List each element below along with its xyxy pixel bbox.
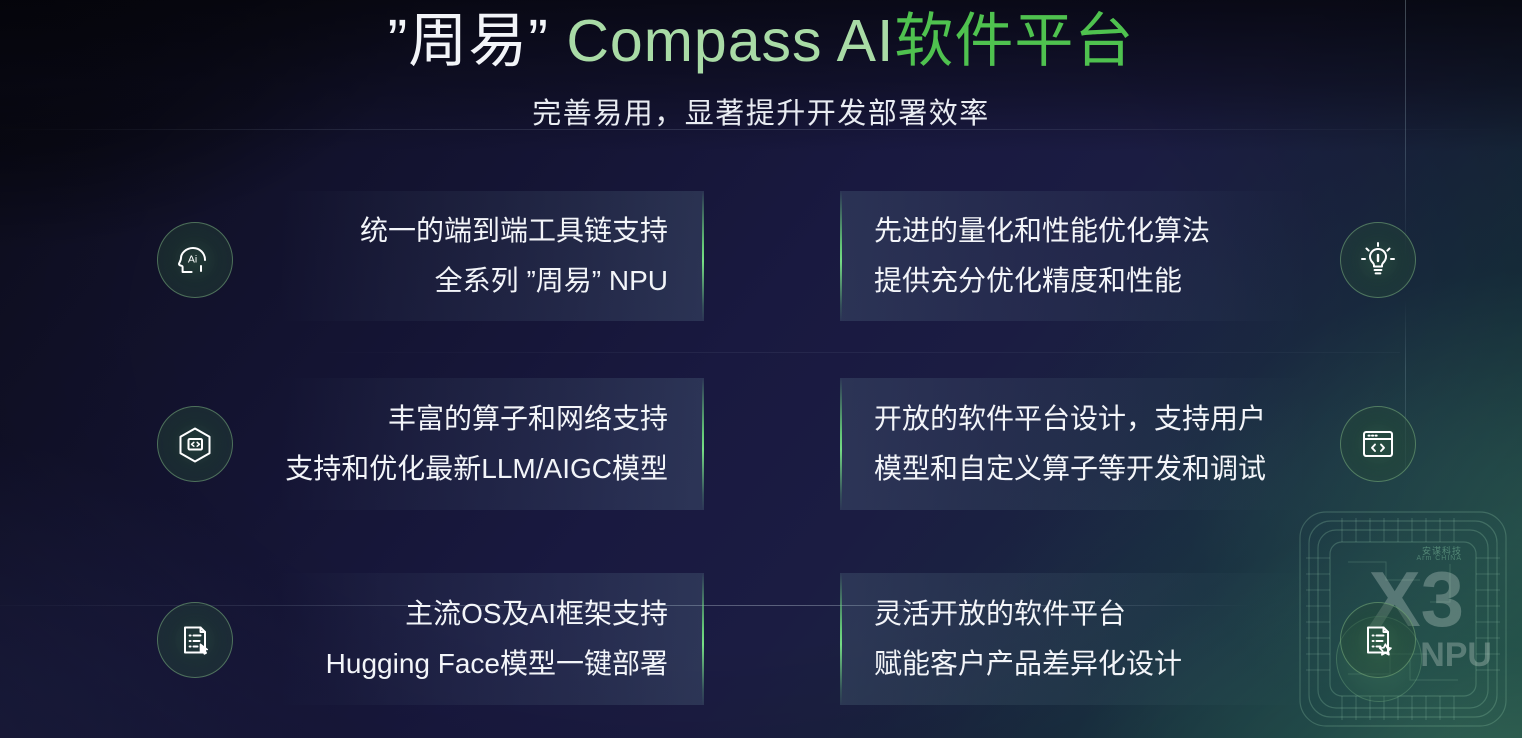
slide-stage: 安谋科技 Arm CHINA X3 NPU ”周易” Compass AI软件平… (0, 0, 1522, 738)
document-cursor-icon (157, 602, 233, 678)
ai-head-icon: Ai (157, 222, 233, 298)
feature-line: 赋能客户产品差异化设计 (874, 650, 1182, 678)
feature-card-rich-operators[interactable]: 丰富的算子和网络支持 支持和优化最新LLM/AIGC模型 (278, 378, 704, 510)
feature-card-advanced-quantization[interactable]: 先进的量化和性能优化算法 提供充分优化精度和性能 (840, 191, 1308, 321)
feature-line: 提供充分优化精度和性能 (874, 267, 1182, 295)
svg-text:Ai: Ai (188, 254, 197, 266)
title-en: Compass AI (566, 8, 894, 74)
feature-card-flexible-platform[interactable]: 灵活开放的软件平台 赋能客户产品差异化设计 (840, 573, 1308, 705)
title-cn-second: 软件平台 (894, 8, 1134, 74)
feature-line: 灵活开放的软件平台 (874, 600, 1126, 628)
header: ”周易” Compass AI软件平台 完善易用，显著提升开发部署效率 (0, 0, 1522, 132)
document-star-icon (1340, 602, 1416, 678)
feature-line: 开放的软件平台设计，支持用户 (874, 405, 1266, 433)
feature-card-os-framework-support[interactable]: 主流OS及AI框架支持 Hugging Face模型一键部署 (278, 573, 704, 705)
feature-line: 丰富的算子和网络支持 (388, 405, 668, 433)
feature-line: 支持和优化最新LLM/AIGC模型 (285, 455, 668, 483)
code-window-icon (1340, 406, 1416, 482)
feature-line: 全系列 ”周易” NPU (435, 267, 668, 295)
page-subtitle: 完善易用，显著提升开发部署效率 (0, 90, 1522, 132)
feature-line: 模型和自定义算子等开发和调试 (874, 455, 1266, 483)
page-title: ”周易” Compass AI软件平台 (0, 0, 1522, 74)
hexagon-code-icon (157, 406, 233, 482)
title-cn-first: 周易 (408, 8, 528, 74)
feature-line: 统一的端到端工具链支持 (360, 217, 668, 245)
lightbulb-idea-icon (1340, 222, 1416, 298)
title-quote-open: ” (388, 8, 409, 74)
feature-line: Hugging Face模型一键部署 (326, 650, 668, 678)
feature-line: 先进的量化和性能优化算法 (874, 217, 1210, 245)
feature-line: 主流OS及AI框架支持 (405, 600, 668, 628)
feature-card-unified-toolchain[interactable]: 统一的端到端工具链支持 全系列 ”周易” NPU (278, 191, 704, 321)
feature-card-open-platform-design[interactable]: 开放的软件平台设计，支持用户 模型和自定义算子等开发和调试 (840, 378, 1308, 510)
title-quote-close: ” (528, 8, 549, 74)
